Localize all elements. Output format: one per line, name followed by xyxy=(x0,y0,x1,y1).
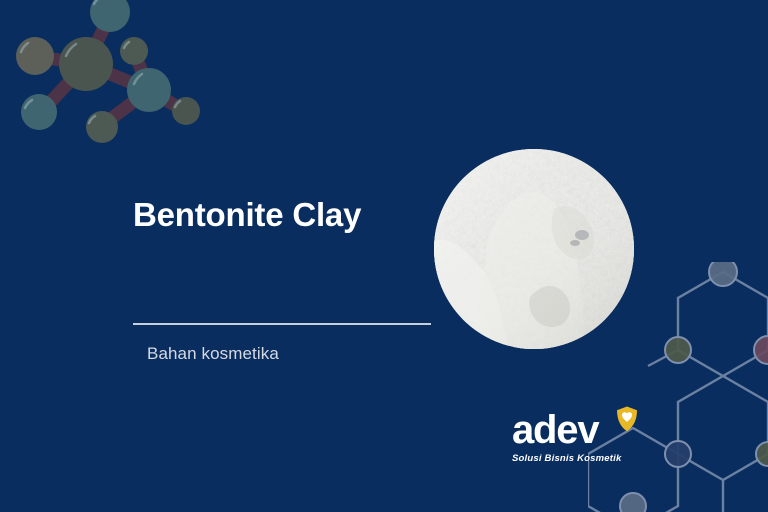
title-block: Bentonite Clay xyxy=(133,196,463,234)
page-title: Bentonite Clay xyxy=(133,196,463,234)
product-photo xyxy=(434,149,634,349)
molecule-icon xyxy=(0,0,234,160)
shield-icon xyxy=(616,406,638,432)
page-subtitle: Bahan kosmetika xyxy=(147,344,279,364)
adev-logo[interactable]: adev Solusi Bisnis Kosmetik xyxy=(512,410,637,464)
logo-tagline: Solusi Bisnis Kosmetik xyxy=(512,453,637,464)
clay-powder-image xyxy=(434,149,634,349)
title-divider xyxy=(133,323,431,325)
slide-canvas: Bentonite Clay Bahan kosmetika adev Solu… xyxy=(0,0,768,512)
